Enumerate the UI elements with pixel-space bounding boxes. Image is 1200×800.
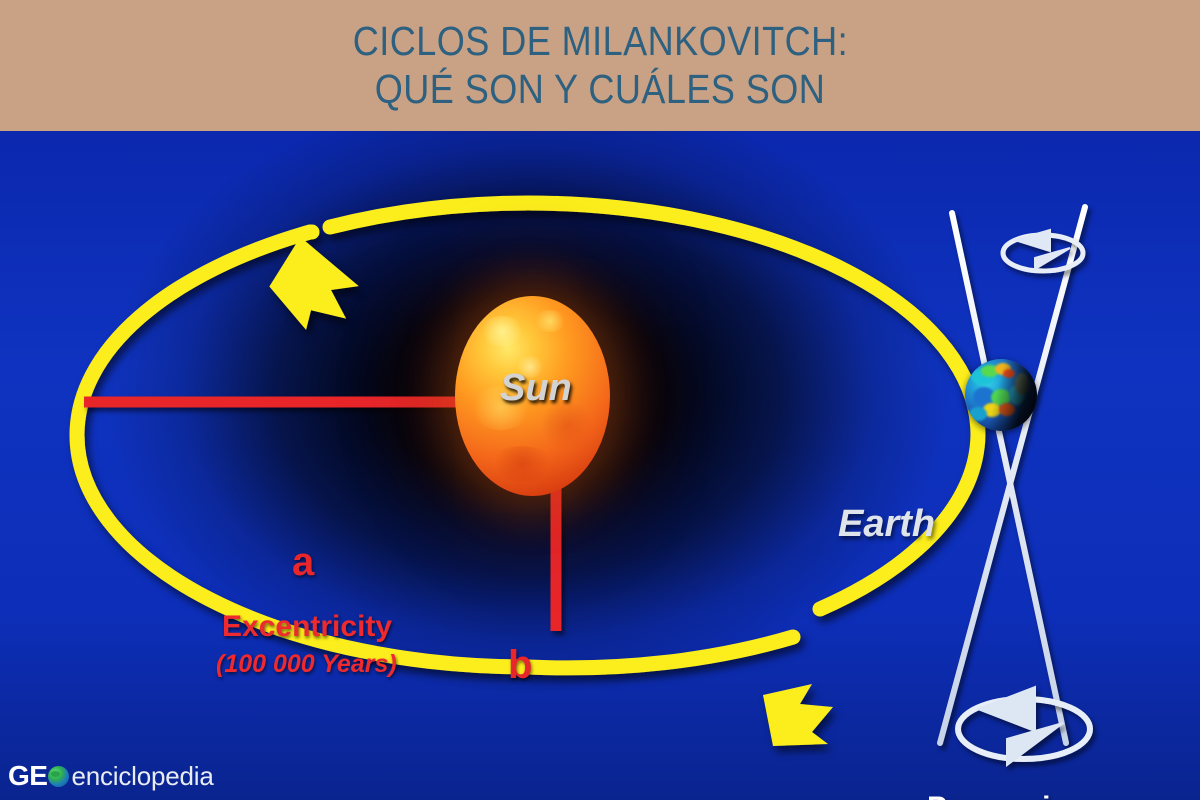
logo-brand-suffix: enciclopedia xyxy=(71,761,213,792)
orbit-arrow-bottom xyxy=(763,684,833,746)
excentricity-period: (100 000 Years) xyxy=(216,650,397,679)
orbit-diagram: Sun Earth a b Excentricity (100 000 Year… xyxy=(0,131,1200,800)
sun-label: Sun xyxy=(500,367,572,410)
excentricity-label: Excentricity xyxy=(222,610,392,644)
earth-body xyxy=(965,359,1037,431)
site-logo[interactable]: GE enciclopedia xyxy=(8,759,214,793)
earth-axis-line-right xyxy=(940,207,1085,743)
semi-major-axis-label: a xyxy=(292,540,314,585)
earth-label: Earth xyxy=(838,503,935,546)
logo-brand-prefix: GE xyxy=(8,760,47,792)
globe-icon xyxy=(48,766,69,787)
milankovitch-cycles-infographic: CICLOS DE MILANKOVITCH: QUÉ SON Y CUÁLES… xyxy=(0,0,1200,800)
header-banner: CICLOS DE MILANKOVITCH: QUÉ SON Y CUÁLES… xyxy=(0,0,1200,131)
precession-label: Precession xyxy=(927,791,1087,800)
semi-minor-axis-label: b xyxy=(508,643,532,688)
rotation-arrow-bottom xyxy=(958,687,1090,765)
orbit-vector-layer xyxy=(0,131,1200,800)
page-title-line-2: QUÉ SON Y CUÁLES SON xyxy=(375,66,826,113)
earth-axis-lines xyxy=(940,207,1085,743)
page-title-line-1: CICLOS DE MILANKOVITCH: xyxy=(352,18,847,65)
